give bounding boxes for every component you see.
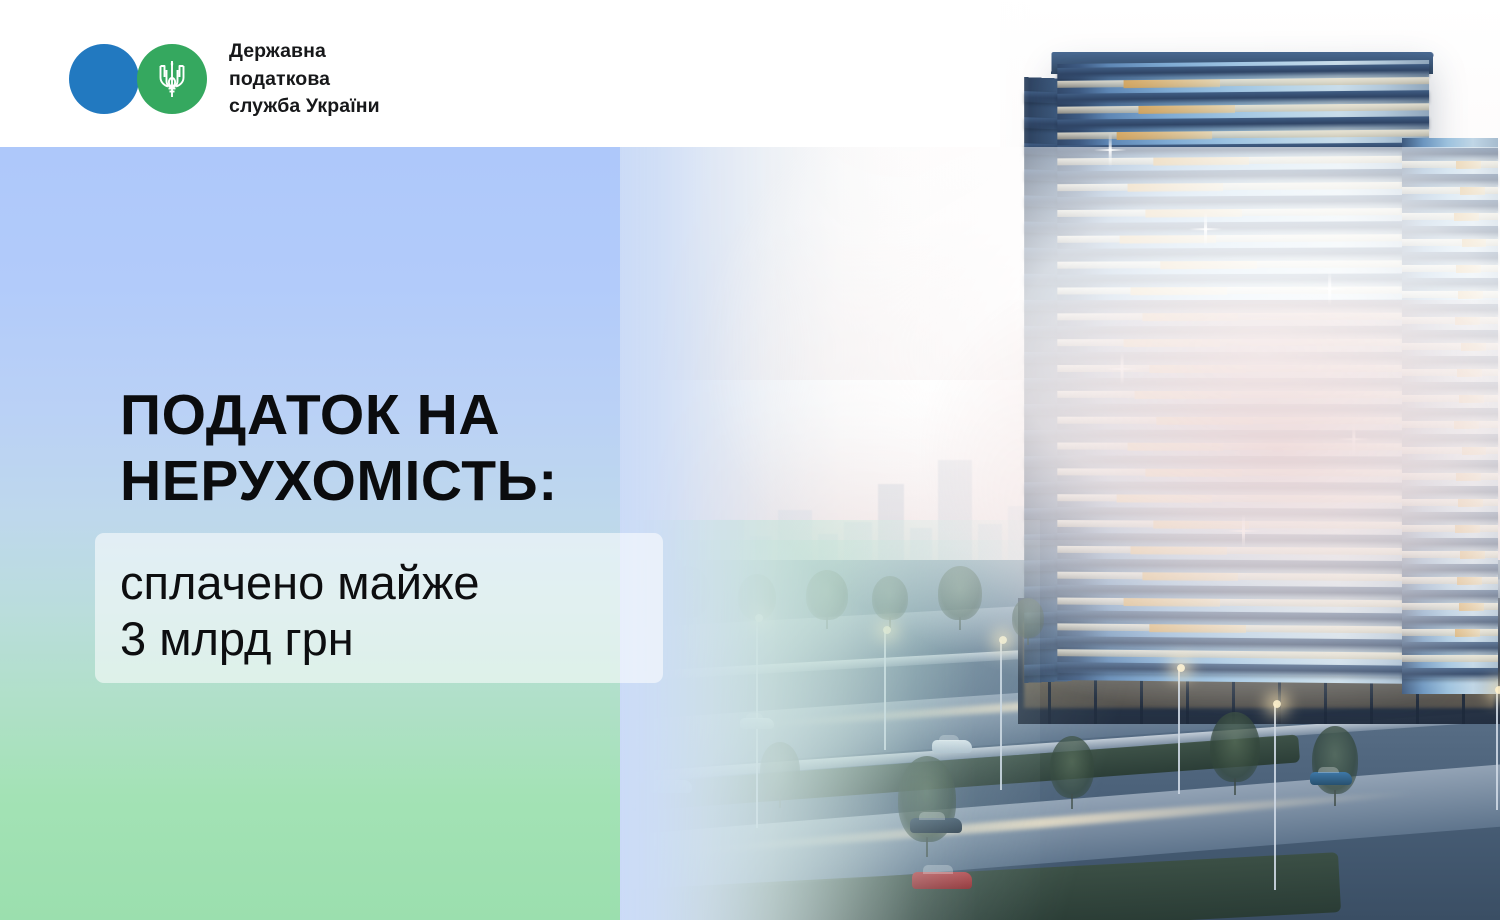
organization-name: Державна податкова служба України (229, 38, 380, 121)
car-blue (1310, 772, 1352, 785)
street-tree (666, 566, 710, 618)
street-lamp (1274, 704, 1276, 890)
street-tree (1210, 712, 1260, 782)
street-lamp (1178, 668, 1180, 794)
car-silver (740, 718, 774, 729)
logo-green-circle (137, 44, 207, 114)
organization-logo[interactable]: Державна податкова служба України (69, 38, 380, 121)
street-lamp (1496, 690, 1498, 810)
tower-right-wing (1402, 138, 1498, 694)
street-tree (760, 742, 800, 798)
car-lightblue (650, 780, 692, 793)
street-tree (806, 570, 848, 620)
glass-glint (1328, 272, 1331, 306)
car-white (932, 740, 972, 753)
street-tree (938, 566, 982, 620)
poster-canvas: Державна податкова служба України ПОДАТО… (0, 0, 1500, 920)
glass-glint (1204, 212, 1207, 246)
ukrainian-trident-icon (155, 57, 189, 101)
street-tree (1012, 598, 1044, 638)
tower-main-face (1057, 60, 1429, 684)
street-lamp (1000, 640, 1002, 790)
subtitle-panel: сплачено майже 3 млрд грн (95, 533, 663, 683)
page-title: ПОДАТОК НА НЕРУХОМІСТЬ: (120, 382, 760, 514)
street-tree (872, 576, 908, 620)
street-tree (738, 574, 776, 620)
glass-glint (1121, 352, 1124, 386)
car-dark (910, 818, 962, 833)
street-lamp (884, 630, 886, 750)
glass-glint (1109, 133, 1112, 167)
subtitle-text: сплачено майже 3 млрд грн (120, 555, 650, 667)
car-red-convertible (912, 872, 972, 889)
glass-glint (1242, 514, 1245, 548)
logo-blue-circle (69, 44, 139, 114)
glass-glint (1352, 422, 1355, 456)
street-tree (1050, 736, 1094, 798)
